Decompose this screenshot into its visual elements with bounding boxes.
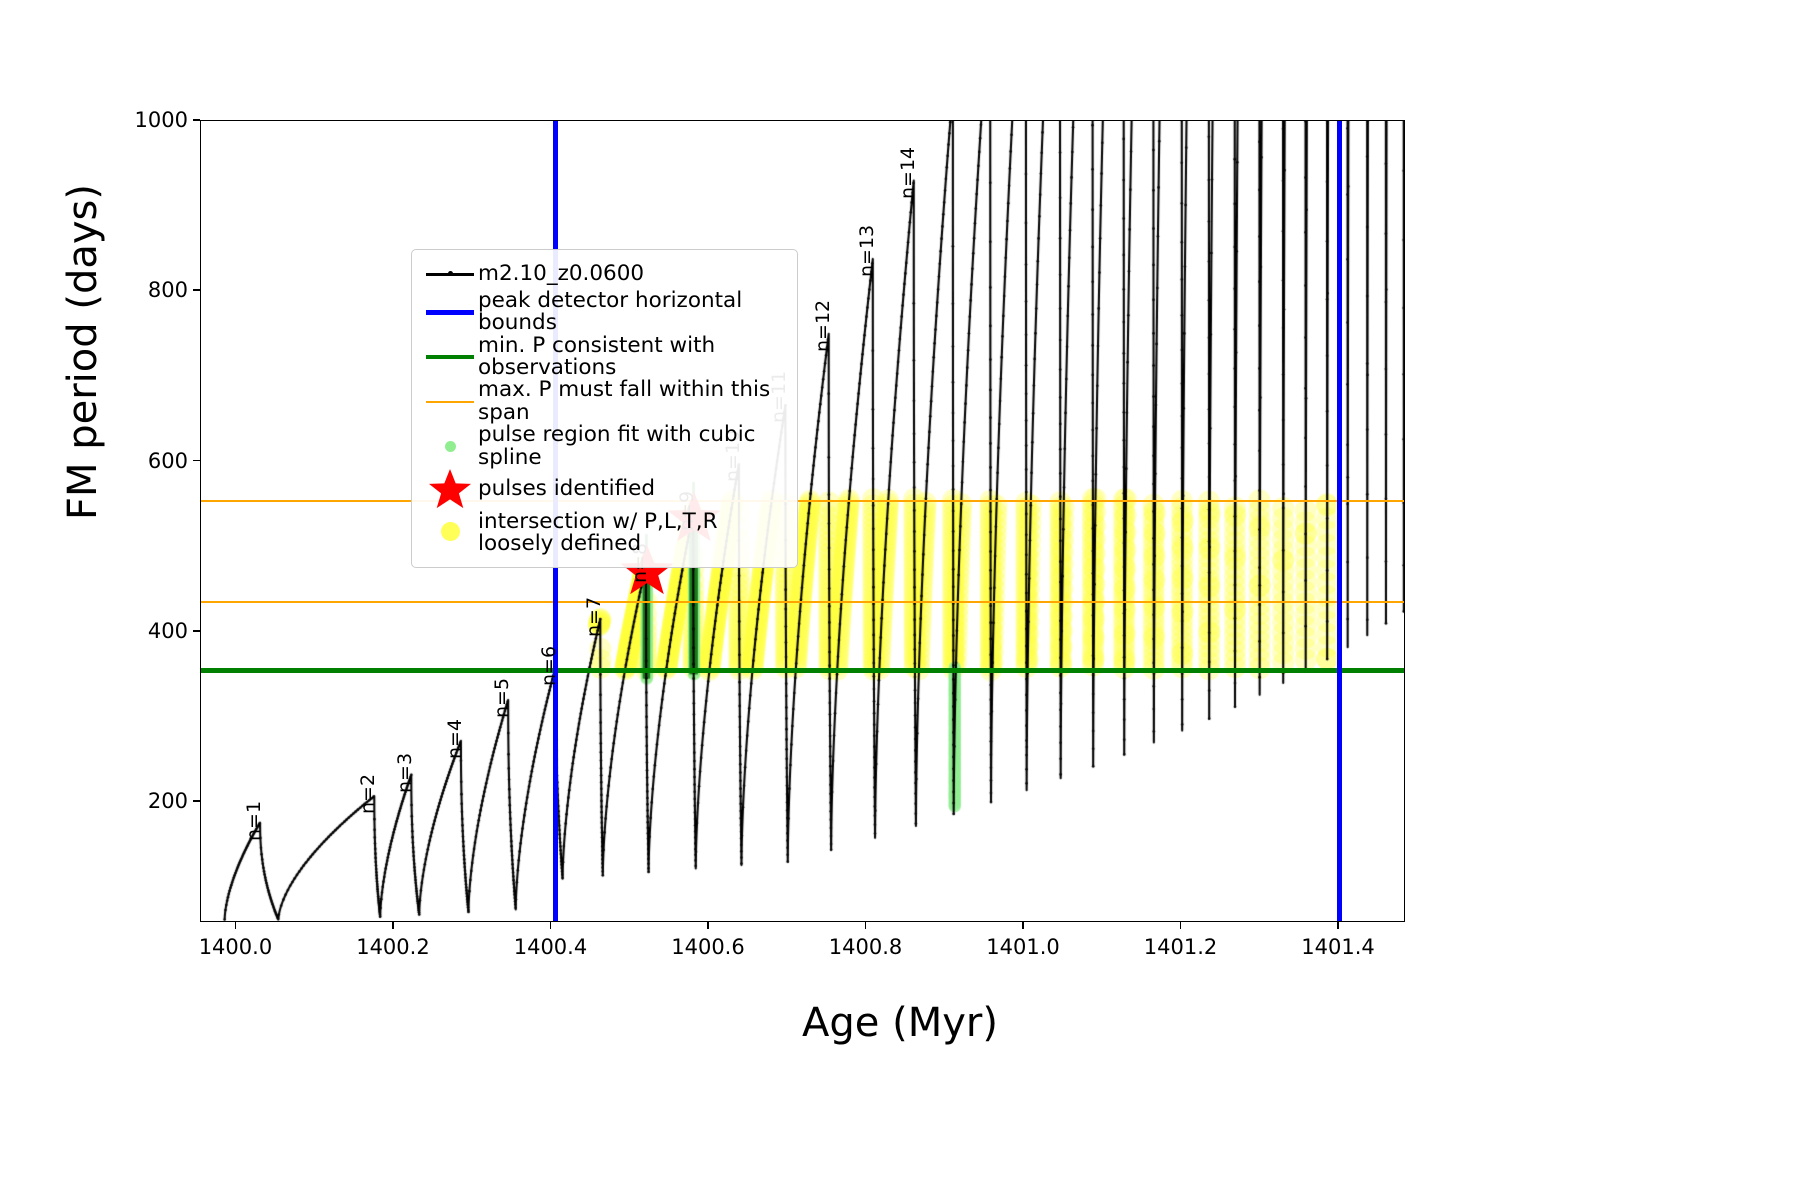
y-axis-label: FM period (days) xyxy=(60,184,106,520)
plot-area: n=1n=2n=3n=4n=5n=6n=7n=8n=9n=10n=11n=12n… xyxy=(200,120,1405,922)
x-tick-mark xyxy=(1337,922,1339,929)
y-tick-mark xyxy=(193,800,200,802)
line-with-dot-icon xyxy=(422,261,478,289)
pulse-number-annotation: n=12 xyxy=(812,300,834,352)
plot-canvas-wrap: n=1n=2n=3n=4n=5n=6n=7n=8n=9n=10n=11n=12n… xyxy=(201,121,1404,921)
pulse-number-annotation: n=2 xyxy=(357,774,379,814)
red-star-icon xyxy=(422,475,478,503)
yellow-dot-icon xyxy=(422,509,478,555)
legend-label-pulses-identified: pulses identified xyxy=(478,478,655,500)
orange-line-icon xyxy=(422,388,478,416)
y-tick-label: 1000 xyxy=(135,108,188,132)
legend-label-intersection: intersection w/ P,L,T,R loosely defined xyxy=(478,509,718,556)
max-period-span-line xyxy=(201,500,1404,502)
legend-label-series: m2.10_z0.0600 xyxy=(478,263,644,285)
x-tick-mark xyxy=(235,922,237,929)
x-axis-label: Age (Myr) xyxy=(0,1000,1800,1046)
x-tick-mark xyxy=(550,922,552,929)
x-tick-label: 1400.2 xyxy=(356,935,429,959)
peak-detector-bound-line xyxy=(1337,121,1342,921)
y-tick-mark xyxy=(193,460,200,462)
y-tick-mark xyxy=(193,119,200,121)
x-tick-mark xyxy=(1022,922,1024,929)
legend-item-peak-bounds[interactable]: peak detector horizontal bounds xyxy=(422,290,787,335)
y-tick-mark xyxy=(193,630,200,632)
y-tick-label: 800 xyxy=(148,278,188,302)
pulse-number-annotation: n=7 xyxy=(583,597,605,637)
legend-item-min-period[interactable]: min. P consistent with observations xyxy=(422,335,787,380)
legend-label-min-period: min. P consistent with observations xyxy=(478,335,787,380)
legend-item-max-period-span[interactable]: max. P must fall within this span xyxy=(422,379,787,424)
x-tick-label: 1400.8 xyxy=(829,935,902,959)
pulse-number-annotation: n=14 xyxy=(897,146,919,198)
legend-item-pulses-identified[interactable]: pulses identified xyxy=(422,469,787,509)
y-tick-label: 600 xyxy=(148,449,188,473)
x-tick-label: 1400.0 xyxy=(199,935,272,959)
x-tick-label: 1401.4 xyxy=(1301,935,1374,959)
figure-canvas: FM period (days) Age (Myr) 2004006008001… xyxy=(0,0,1800,1200)
x-tick-mark xyxy=(1180,922,1182,929)
x-tick-mark xyxy=(392,922,394,929)
legend-item-intersection[interactable]: intersection w/ P,L,T,R loosely defined xyxy=(422,509,787,557)
y-tick-mark xyxy=(193,289,200,291)
legend-label-max-period-span: max. P must fall within this span xyxy=(478,379,787,424)
x-tick-label: 1401.2 xyxy=(1144,935,1217,959)
legend-label-spline-fit: pulse region fit with cubic spline xyxy=(478,424,787,469)
min-period-line xyxy=(201,668,1404,673)
x-tick-mark xyxy=(707,922,709,929)
legend-label-peak-bounds: peak detector horizontal bounds xyxy=(478,290,787,335)
plot-overlay: n=1n=2n=3n=4n=5n=6n=7n=8n=9n=10n=11n=12n… xyxy=(201,121,1404,921)
green-dot-icon xyxy=(422,433,478,461)
pulse-number-annotation: n=1 xyxy=(243,800,265,840)
x-tick-label: 1401.0 xyxy=(986,935,1059,959)
x-tick-label: 1400.4 xyxy=(514,935,587,959)
y-tick-label: 400 xyxy=(148,619,188,643)
pulse-number-annotation: n=5 xyxy=(491,678,513,718)
pulse-number-annotation: n=3 xyxy=(394,753,416,793)
pulse-number-annotation: n=6 xyxy=(538,646,560,686)
x-tick-mark xyxy=(865,922,867,929)
legend[interactable]: m2.10_z0.0600 peak detector horizontal b… xyxy=(411,249,798,568)
pulse-number-annotation: n=13 xyxy=(856,225,878,277)
y-tick-label: 200 xyxy=(148,789,188,813)
legend-item-series[interactable]: m2.10_z0.0600 xyxy=(422,259,787,290)
green-line-icon xyxy=(422,343,478,371)
max-period-span-line xyxy=(201,601,1404,603)
blue-line-icon xyxy=(422,298,478,326)
legend-item-spline-fit[interactable]: pulse region fit with cubic spline xyxy=(422,424,787,469)
pulse-number-annotation: n=4 xyxy=(444,719,466,759)
x-tick-label: 1400.6 xyxy=(671,935,744,959)
